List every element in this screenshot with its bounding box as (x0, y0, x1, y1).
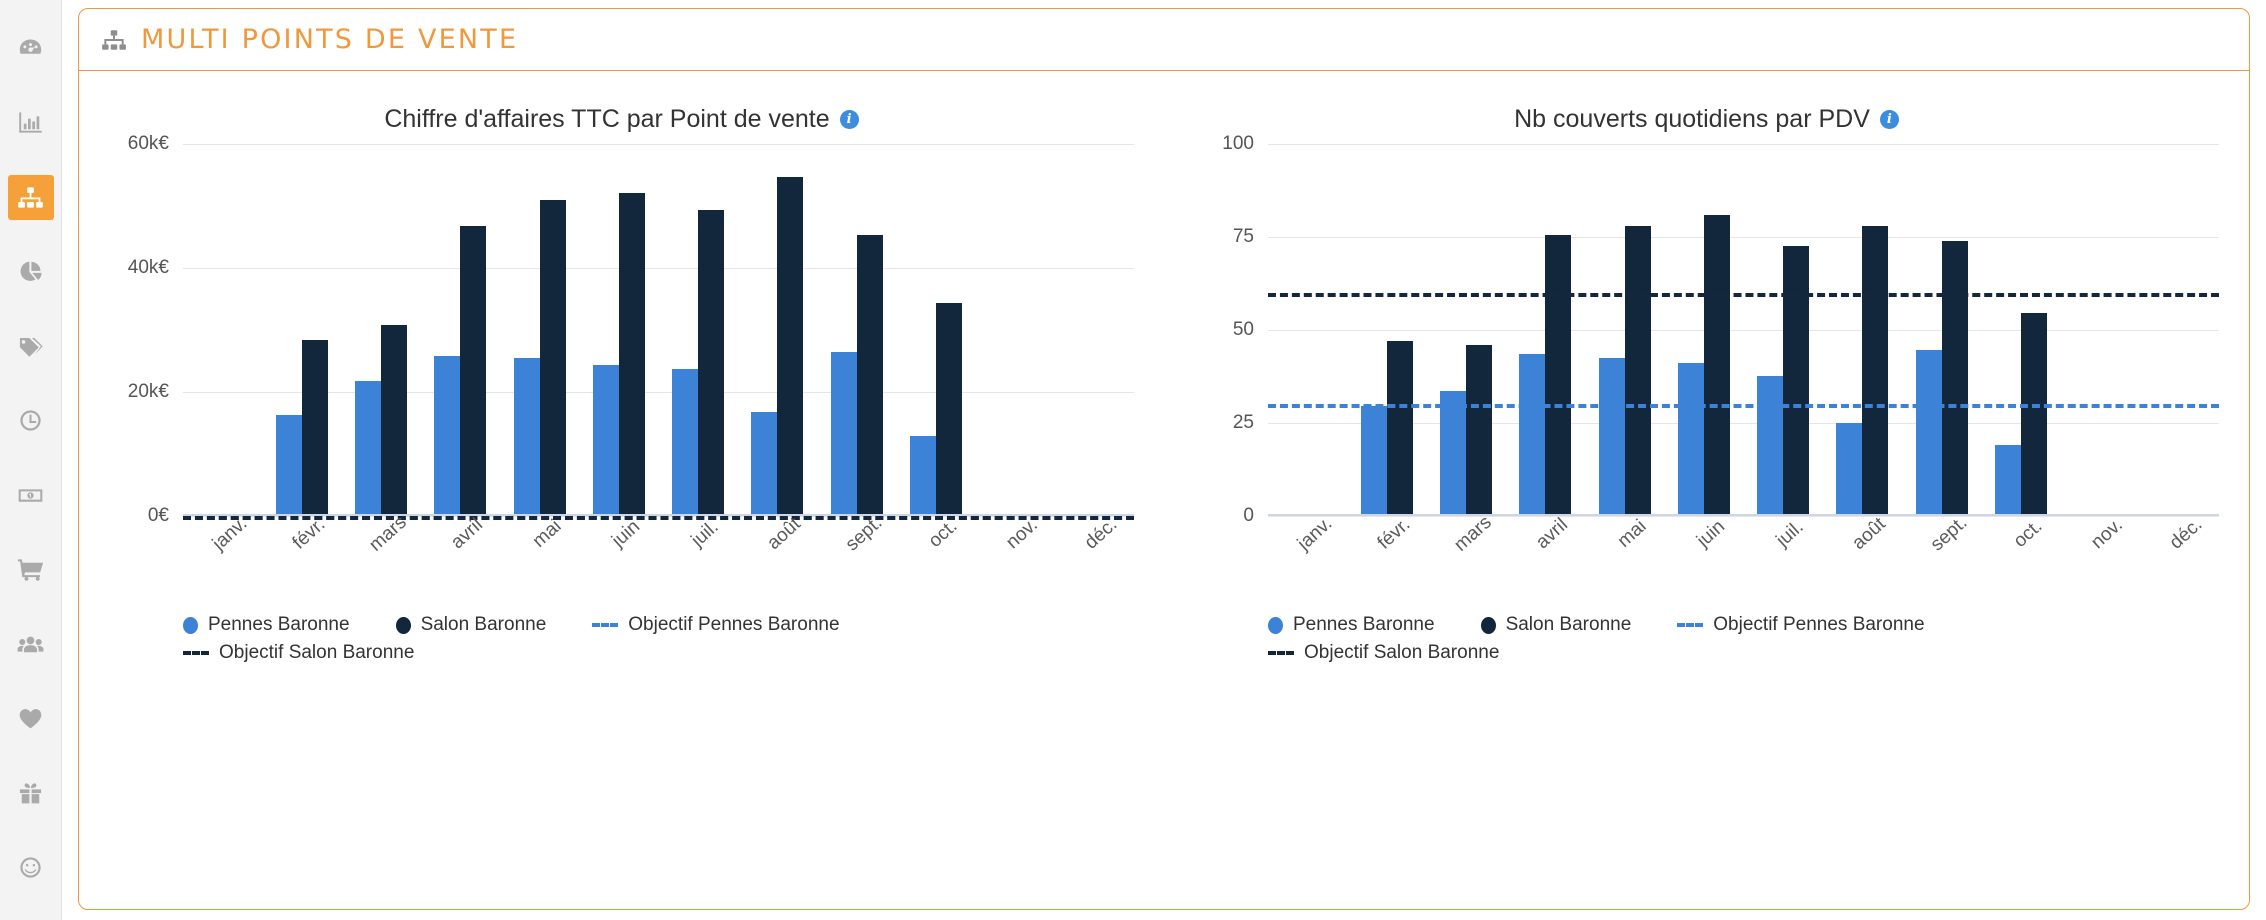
info-icon[interactable]: i (1880, 110, 1899, 129)
bar-group (579, 144, 658, 514)
legend-item-pennes-baronne[interactable]: Pennes Baronne (183, 614, 350, 636)
x-axis-tick: août (738, 520, 817, 590)
bar-group (2140, 144, 2219, 514)
bar[interactable] (1916, 350, 1942, 514)
x-axis-tick-label: oct. (924, 516, 961, 553)
sitemap-icon (17, 184, 44, 211)
bar[interactable] (698, 210, 724, 514)
bar[interactable] (1545, 235, 1571, 514)
bar-group (342, 144, 421, 514)
x-axis-tick: févr. (262, 520, 341, 590)
pie-chart-icon (17, 258, 44, 285)
sidebar-item-repartition[interactable] (8, 250, 54, 295)
sidebar-item-statistics[interactable] (8, 101, 54, 146)
x-axis-tick-label: juil. (1773, 516, 1809, 551)
bar-group (1055, 144, 1134, 514)
legend-label: Pennes Baronne (208, 614, 350, 636)
bar[interactable] (1519, 354, 1545, 514)
chart-title-text: Nb couverts quotidiens par PDV (1514, 105, 1870, 134)
bar-chart-icon (17, 109, 44, 136)
bar-group (1902, 144, 1981, 514)
y-axis-tick-label: 40k€ (128, 257, 169, 279)
target-line (1268, 404, 2219, 408)
bar-group (1268, 144, 1347, 514)
panel-header: MULTI POINTS DE VENTE (79, 9, 2249, 71)
x-axis-tick: janv. (183, 520, 262, 590)
x-axis-tick: août (1823, 520, 1902, 590)
bar[interactable] (276, 415, 302, 514)
bar[interactable] (302, 340, 328, 514)
bar[interactable] (936, 303, 962, 514)
chart-title: Chiffre d'affaires TTC par Point de vent… (105, 105, 1138, 134)
bar[interactable] (514, 358, 540, 514)
legend-label: Objectif Salon Baronne (1304, 642, 1499, 664)
sitemap-icon (101, 27, 127, 53)
multi-points-de-vente-panel: MULTI POINTS DE VENTE Chiffre d'affaires… (78, 8, 2250, 910)
y-axis-tick-label: 0€ (148, 505, 169, 527)
main-content: MULTI POINTS DE VENTE Chiffre d'affaires… (62, 0, 2266, 920)
x-axis-tick-label: nov. (1002, 514, 1042, 553)
app-root: MULTI POINTS DE VENTE Chiffre d'affaires… (0, 0, 2266, 920)
shopping-cart-icon (17, 556, 44, 583)
tags-icon (17, 333, 44, 360)
heart-icon (17, 705, 44, 732)
banknote-icon (17, 482, 44, 509)
bar[interactable] (434, 356, 460, 514)
bar[interactable] (1862, 226, 1888, 514)
legend-dot-icon (1268, 617, 1283, 634)
x-axis-tick: sept. (817, 520, 896, 590)
sidebar-item-dashboard[interactable] (8, 26, 54, 71)
x-axis-tick-label: janv. (1293, 513, 1337, 555)
x-axis-tick: déc. (2140, 520, 2219, 590)
chart-title-text: Chiffre d'affaires TTC par Point de vent… (384, 105, 829, 134)
bar[interactable] (1783, 246, 1809, 514)
bar-group (262, 144, 341, 514)
sidebar-item-fidelite[interactable] (8, 697, 54, 742)
speedometer-icon (17, 35, 44, 62)
legend-label: Salon Baronne (1506, 614, 1632, 636)
bar[interactable] (460, 226, 486, 514)
bar-group (1981, 144, 2060, 514)
chart-title: Nb couverts quotidiens par PDVi (1190, 105, 2223, 134)
sidebar-item-produits[interactable] (8, 324, 54, 369)
bar-group (183, 144, 262, 514)
x-axis-tick-label: août (764, 514, 806, 555)
legend-item-salon-baronne[interactable]: Salon Baronne (396, 614, 547, 636)
sidebar-item-clients[interactable] (8, 622, 54, 667)
x-axis-tick-label: mai (1613, 516, 1650, 553)
x-axis-tick-label: déc. (2166, 514, 2207, 554)
x-axis-tick-label: avril (447, 514, 488, 554)
bar-group (1744, 144, 1823, 514)
bar[interactable] (381, 325, 407, 514)
charts-row: Chiffre d'affaires TTC par Point de vent… (79, 71, 2249, 909)
x-axis-tick: juil. (659, 520, 738, 590)
bar-group (896, 144, 975, 514)
legend-item-objectif-pennes-baronne[interactable]: Objectif Pennes Baronne (1677, 614, 1924, 636)
x-axis-tick: mars (1427, 520, 1506, 590)
bar[interactable] (1387, 341, 1413, 514)
sidebar-item-satisfaction[interactable] (8, 846, 54, 891)
y-axis-tick-label: 75 (1233, 226, 1254, 248)
bar[interactable] (1995, 445, 2021, 514)
bar[interactable] (1466, 345, 1492, 514)
legend-label: Pennes Baronne (1293, 614, 1435, 636)
bar-group (659, 144, 738, 514)
bar-group (976, 144, 1055, 514)
bar[interactable] (751, 412, 777, 514)
bar[interactable] (1440, 391, 1466, 514)
legend-item-objectif-salon-baronne[interactable]: Objectif Salon Baronne (1268, 642, 1499, 664)
bar-group (2061, 144, 2140, 514)
bar[interactable] (1599, 358, 1625, 514)
legend-label: Salon Baronne (421, 614, 547, 636)
x-axis-tick-label: août (1849, 514, 1891, 555)
bar-group (500, 144, 579, 514)
bar-group (421, 144, 500, 514)
y-axis-tick-label: 25 (1233, 412, 1254, 434)
bar[interactable] (1361, 406, 1387, 514)
x-axis-tick-label: avril (1532, 514, 1573, 554)
y-axis: 0255075100 (1190, 144, 1262, 516)
bar[interactable] (355, 381, 381, 514)
plot-area: 0255075100janv.févr.marsavrilmaijuinjuil… (1190, 144, 2223, 544)
x-axis-tick-label: févr. (289, 514, 330, 554)
x-axis-tick: mai (500, 520, 579, 590)
chart-nb-couverts: Nb couverts quotidiens par PDVi025507510… (1164, 71, 2249, 909)
bar[interactable] (831, 352, 857, 514)
legend-item-pennes-baronne[interactable]: Pennes Baronne (1268, 614, 1435, 636)
bar[interactable] (593, 365, 619, 514)
x-axis-tick: févr. (1347, 520, 1426, 590)
legend-dot-icon (1481, 617, 1496, 634)
plot-canvas (183, 144, 1134, 516)
x-axis-tick: avril (421, 520, 500, 590)
plot-area: 0€20k€40k€60k€janv.févr.marsavrilmaijuin… (105, 144, 1138, 544)
x-axis-tick-label: juin (608, 516, 645, 552)
bar[interactable] (540, 200, 566, 514)
x-axis-tick: oct. (1981, 520, 2060, 590)
sidebar (0, 0, 62, 920)
legend-item-objectif-pennes-baronne[interactable]: Objectif Pennes Baronne (592, 614, 839, 636)
bar[interactable] (910, 436, 936, 514)
page-title: MULTI POINTS DE VENTE (141, 24, 518, 55)
sidebar-item-encaissements[interactable] (8, 473, 54, 518)
x-axis-tick-label: mars (1450, 512, 1496, 557)
x-axis-tick-label: déc. (1081, 514, 1122, 554)
bar[interactable] (672, 369, 698, 514)
chart-chiffre-affaires: Chiffre d'affaires TTC par Point de vent… (79, 71, 1164, 909)
x-axis-tick: oct. (896, 520, 975, 590)
x-axis-tick-label: oct. (2009, 516, 2046, 553)
bar[interactable] (1942, 241, 1968, 514)
y-axis-tick-label: 20k€ (128, 381, 169, 403)
bar-groups (1268, 144, 2219, 514)
bar-group (1347, 144, 1426, 514)
x-axis: janv.févr.marsavrilmaijuinjuil.aoûtsept.… (183, 520, 1134, 590)
bar[interactable] (857, 235, 883, 514)
x-axis-tick: juil. (1744, 520, 1823, 590)
legend-item-salon-baronne[interactable]: Salon Baronne (1481, 614, 1632, 636)
x-axis-tick-label: mai (528, 516, 565, 553)
x-axis-tick: nov. (976, 520, 1055, 590)
sidebar-item-multi-points-de-vente[interactable] (8, 175, 54, 220)
bar[interactable] (619, 193, 645, 514)
sidebar-item-horaires[interactable] (8, 399, 54, 444)
legend-dot-icon (183, 617, 198, 634)
x-axis-tick: déc. (1055, 520, 1134, 590)
legend-dash-icon (183, 651, 209, 655)
bar-group (738, 144, 817, 514)
chart-legend: Pennes BaronneSalon BaronneObjectif Penn… (183, 614, 1128, 664)
bar[interactable] (1757, 376, 1783, 514)
y-axis-tick-label: 50 (1233, 319, 1254, 341)
bar[interactable] (1678, 363, 1704, 514)
bar-group (1823, 144, 1902, 514)
bar-group (1664, 144, 1743, 514)
bar[interactable] (1625, 226, 1651, 514)
x-axis-tick-label: juin (1693, 516, 1730, 552)
x-axis-tick: nov. (2061, 520, 2140, 590)
sidebar-item-commandes[interactable] (8, 548, 54, 593)
x-axis-tick: janv. (1268, 520, 1347, 590)
y-axis-tick-label: 100 (1222, 133, 1254, 155)
x-axis-tick-label: sept. (1926, 512, 1971, 556)
x-axis-line (183, 514, 1134, 516)
x-axis-tick: juin (1664, 520, 1743, 590)
legend-dot-icon (396, 617, 411, 634)
bar[interactable] (2021, 313, 2047, 514)
bar[interactable] (1836, 423, 1862, 514)
y-axis: 0€20k€40k€60k€ (105, 144, 177, 516)
legend-label: Objectif Pennes Baronne (1713, 614, 1924, 636)
legend-label: Objectif Pennes Baronne (628, 614, 839, 636)
legend-dash-icon (592, 623, 618, 627)
x-axis-tick-label: janv. (208, 513, 252, 555)
x-axis-tick-label: févr. (1374, 514, 1415, 554)
bar-group (1506, 144, 1585, 514)
x-axis-tick: mars (342, 520, 421, 590)
legend-dash-icon (1677, 623, 1703, 627)
bar[interactable] (1704, 215, 1730, 514)
gift-icon (17, 780, 44, 807)
x-axis-tick-label: juil. (688, 516, 724, 551)
x-axis-tick: juin (579, 520, 658, 590)
gridline (1268, 516, 2219, 517)
x-axis-tick: avril (1506, 520, 1585, 590)
bar-group (1585, 144, 1664, 514)
x-axis-tick: mai (1585, 520, 1664, 590)
target-line (1268, 293, 2219, 297)
smiley-icon (17, 854, 44, 881)
info-icon[interactable]: i (840, 110, 859, 129)
legend-item-objectif-salon-baronne[interactable]: Objectif Salon Baronne (183, 642, 414, 664)
x-axis-tick: sept. (1902, 520, 1981, 590)
users-icon (17, 631, 44, 658)
clock-icon (17, 407, 44, 434)
bar-group (1427, 144, 1506, 514)
y-axis-tick-label: 60k€ (128, 133, 169, 155)
bar-group (817, 144, 896, 514)
x-axis-tick-label: nov. (2087, 514, 2127, 553)
legend-label: Objectif Salon Baronne (219, 642, 414, 664)
bar[interactable] (777, 177, 803, 514)
x-axis: janv.févr.marsavrilmaijuinjuil.aoûtsept.… (1268, 520, 2219, 590)
chart-legend: Pennes BaronneSalon BaronneObjectif Penn… (1268, 614, 2213, 664)
sidebar-item-cadeaux[interactable] (8, 771, 54, 816)
y-axis-tick-label: 0 (1243, 505, 1254, 527)
x-axis-line (1268, 514, 2219, 516)
bar-groups (183, 144, 1134, 514)
legend-dash-icon (1268, 651, 1294, 655)
plot-canvas (1268, 144, 2219, 516)
